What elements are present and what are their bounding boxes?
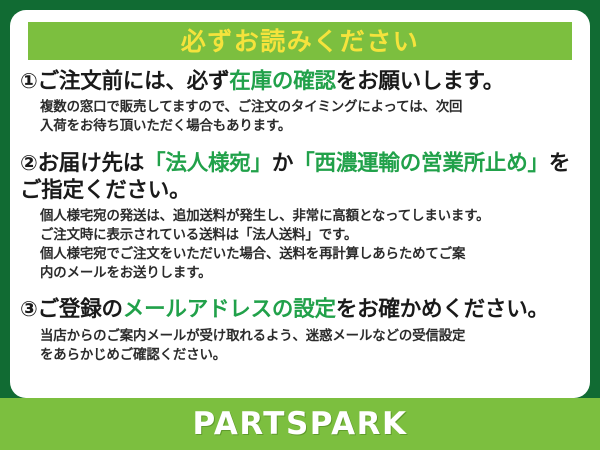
notice-item-2-body: 個人様宅宛の発送は、追加送料が発生し、非常に高額となってしまいます。 ご注文時に… — [40, 207, 582, 283]
notice-banner: 必ずお読みください ①ご注文前には、必ず在庫の確認をお願いします。 複数の窓口で… — [0, 0, 600, 450]
notice-item-2-number: ② — [20, 151, 38, 175]
header-bar: 必ずお読みください — [28, 22, 572, 60]
brand-logo-text: PARTSPARK — [192, 409, 407, 440]
notice-item-1: ①ご注文前には、必ず在庫の確認をお願いします。 複数の窓口で販売してますので、ご… — [20, 68, 582, 136]
notice-item-1-text-b: をお願いします。 — [336, 69, 504, 94]
notice-item-2-text-a: お届け先は — [38, 151, 145, 176]
notice-item-3-text-b: をお確かめください。 — [336, 297, 549, 322]
notice-item-3-highlight: メールアドレスの設定 — [123, 297, 336, 322]
notice-item-2: ②お届け先は「法人様宛」か「西濃運輸の営業所止め」をご指定ください。 個人様宅宛… — [20, 150, 582, 283]
notice-item-3-number: ③ — [20, 297, 38, 321]
notice-item-1-heading: ①ご注文前には、必ず在庫の確認をお願いします。 — [20, 68, 582, 95]
notice-item-1-body: 複数の窓口で販売してますので、ご注文のタイミングによっては、次回 入荷をお待ち頂… — [40, 98, 582, 136]
notice-item-3-body: 当店からのご案内メールが受け取れるよう、迷惑メールなどの受信設定 をあらかじめご… — [40, 327, 582, 365]
notice-item-2-text-b: か — [272, 151, 293, 176]
notice-item-2-heading: ②お届け先は「法人様宛」か「西濃運輸の営業所止め」をご指定ください。 — [20, 150, 582, 204]
header-title: 必ずお読みください — [181, 29, 420, 54]
notice-item-2-highlight-b: 「西濃運輸の営業所止め」 — [293, 151, 549, 176]
footer-bar: PARTSPARK — [0, 398, 600, 450]
notice-list: ①ご注文前には、必ず在庫の確認をお願いします。 複数の窓口で販売してますので、ご… — [10, 68, 590, 367]
notice-item-2-highlight-a: 「法人様宛」 — [144, 151, 272, 176]
notice-item-1-text-a: ご注文前には、必ず — [38, 69, 230, 94]
notice-item-1-number: ① — [20, 69, 38, 93]
notice-item-3-heading: ③ご登録のメールアドレスの設定をお確かめください。 — [20, 296, 582, 323]
white-content-panel: 必ずお読みください ①ご注文前には、必ず在庫の確認をお願いします。 複数の窓口で… — [10, 10, 590, 398]
notice-item-1-highlight: 在庫の確認 — [229, 69, 336, 94]
notice-item-3-text-a: ご登録の — [38, 297, 123, 322]
notice-item-3: ③ご登録のメールアドレスの設定をお確かめください。 当店からのご案内メールが受け… — [20, 296, 582, 364]
